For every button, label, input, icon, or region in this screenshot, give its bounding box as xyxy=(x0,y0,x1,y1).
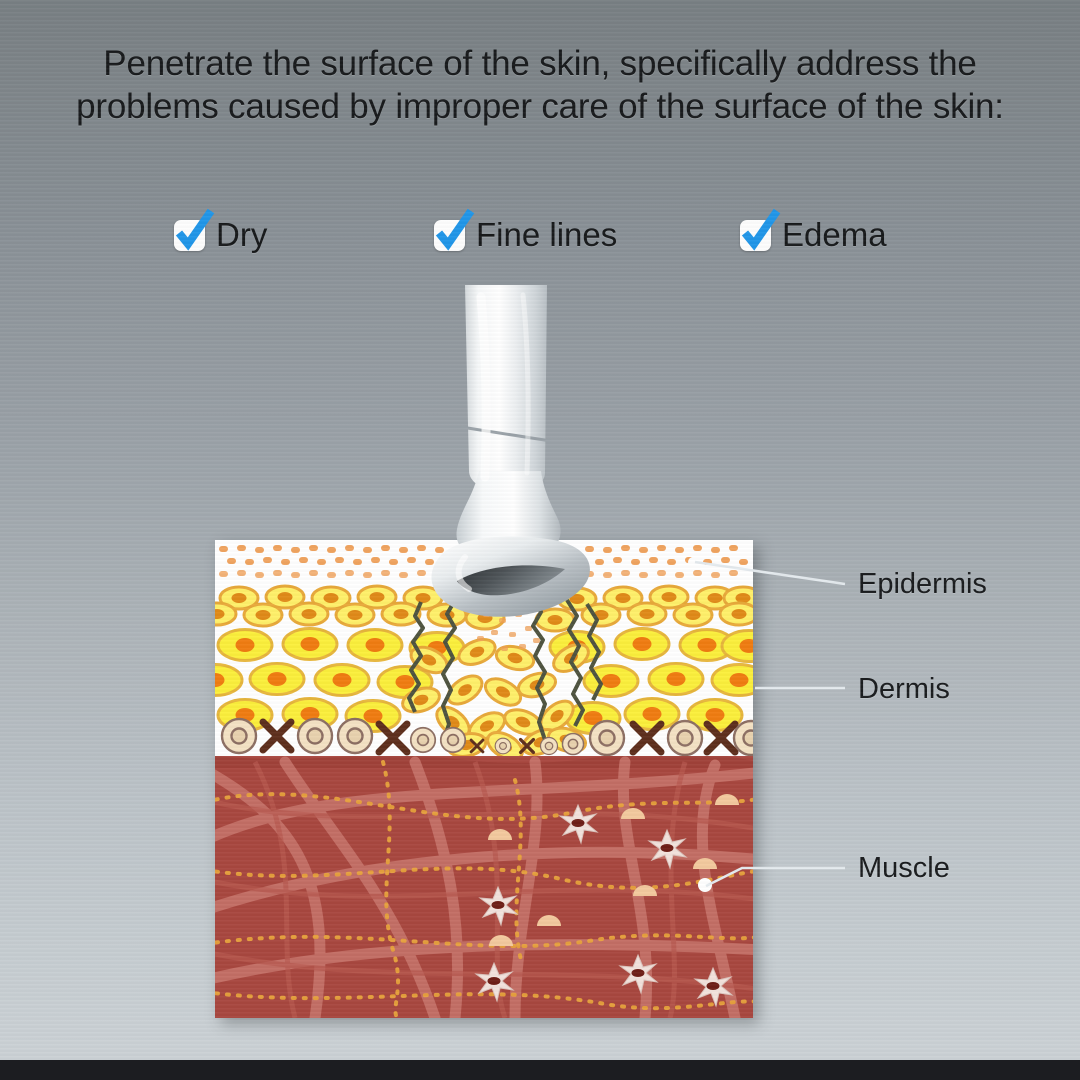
checkmark-icon[interactable] xyxy=(174,218,207,251)
muscle-marker-dot xyxy=(698,878,712,892)
wand-shaft xyxy=(465,285,547,491)
checkmark-icon[interactable] xyxy=(740,218,773,251)
condition-checkbox-row: Dry Fine lines Edema xyxy=(0,218,1080,278)
checkmark-icon[interactable] xyxy=(434,218,467,251)
checkmark-glyph xyxy=(739,209,781,255)
bottom-letterbox-bar xyxy=(0,1060,1080,1080)
checkbox-item-edema[interactable]: Edema xyxy=(740,218,887,251)
checkbox-label: Edema xyxy=(782,218,887,251)
muscle-layer xyxy=(215,751,753,1018)
page-title: Penetrate the surface of the skin, speci… xyxy=(50,42,1030,128)
checkbox-label: Fine lines xyxy=(476,218,617,251)
wand-highlight xyxy=(481,297,486,477)
callout-label-muscle: Muscle xyxy=(858,854,950,883)
checkmark-glyph xyxy=(433,209,475,255)
callout-label-epidermis: Epidermis xyxy=(858,570,987,599)
checkbox-item-dry[interactable]: Dry xyxy=(174,218,267,251)
callout-label-dermis: Dermis xyxy=(858,675,950,704)
checkmark-glyph xyxy=(173,209,215,255)
checkbox-label: Dry xyxy=(216,218,267,251)
slide-canvas: Penetrate the surface of the skin, speci… xyxy=(0,0,1080,1080)
checkbox-item-fine-lines[interactable]: Fine lines xyxy=(434,218,617,251)
epidermis-marker-dot xyxy=(688,557,698,567)
applicator-wand[interactable] xyxy=(395,285,635,615)
